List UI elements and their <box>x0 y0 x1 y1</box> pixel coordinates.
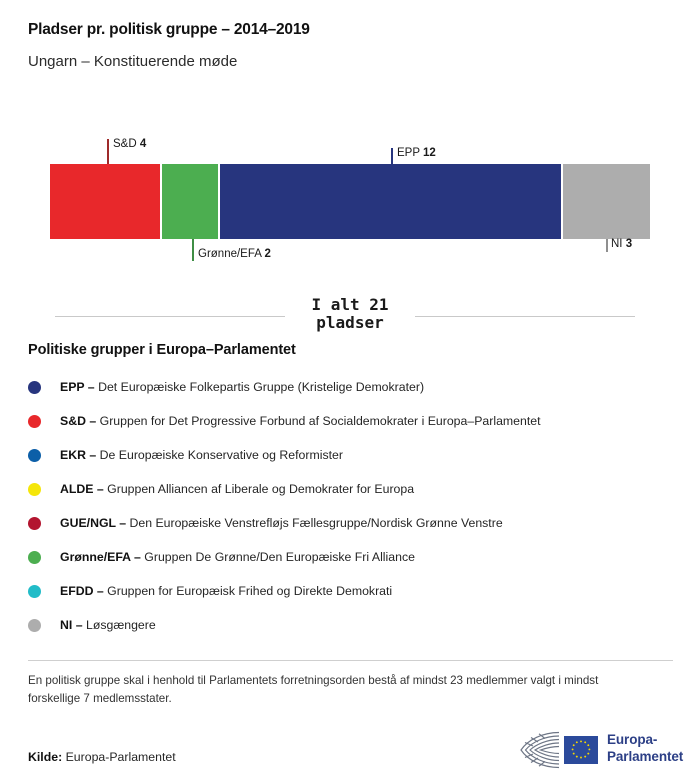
legend-dot-icon <box>28 449 41 462</box>
callout-label-sd: S&D 4 <box>113 138 146 150</box>
chart-header: Pladser pr. politisk gruppe – 2014–2019 … <box>28 20 672 72</box>
leader-line-ni <box>606 239 608 252</box>
total-seats-text: I alt 21 pladser <box>0 296 700 332</box>
callout-label-epp: EPP 12 <box>397 147 436 159</box>
legend-item-abbr: S&D – <box>60 414 96 428</box>
legend-item-desc: De Europæiske Konservative og Reformiste… <box>100 448 343 462</box>
bar-segment-sd[interactable] <box>50 164 162 239</box>
callout-label-ni: NI 3 <box>611 238 632 250</box>
legend-item-text: ALDE – Gruppen Alliancen af Liberale og … <box>60 482 414 497</box>
footnote-text: En politisk gruppe skal i henhold til Pa… <box>28 672 648 708</box>
legend-dot-icon <box>28 619 41 632</box>
logo-wordmark: Europa- Parlamentet <box>607 731 683 766</box>
source-label: Kilde: <box>28 750 62 764</box>
callout-value-sd: 4 <box>140 138 146 150</box>
legend-list: EPP – Det Europæiske Folkepartis Gruppe … <box>28 370 673 642</box>
legend-item-desc: Gruppen Alliancen af Liberale og Demokra… <box>107 482 414 496</box>
bar-segment-epp[interactable] <box>220 164 563 239</box>
bar-segment-gronne-efa[interactable] <box>162 164 220 239</box>
total-seats-line2: pladser <box>0 314 700 332</box>
bar-segment-ni[interactable] <box>563 164 650 239</box>
hemicycle-icon <box>515 727 603 773</box>
legend-item-abbr: ALDE – <box>60 482 104 496</box>
legend-item-text: S&D – Gruppen for Det Progressive Forbun… <box>60 414 541 429</box>
legend-item-text: EFDD – Gruppen for Europæisk Frihed og D… <box>60 584 392 599</box>
legend-item-abbr: EFDD – <box>60 584 104 598</box>
logo-line-1: Europa- <box>607 731 683 748</box>
legend-item-desc: Den Europæiske Venstrefløjs Fællesgruppe… <box>129 516 502 530</box>
source-value: Europa-Parlamentet <box>66 750 176 764</box>
legend-item-text: NI – Løsgængere <box>60 618 156 633</box>
stacked-bar-chart: S&D 4 EPP 12 Grønne/EFA 2 NI 3 <box>0 130 700 270</box>
legend-item-efdd[interactable]: EFDD – Gruppen for Europæisk Frihed og D… <box>28 574 673 608</box>
callout-name-epp: EPP <box>397 147 420 159</box>
callout-label-gronne-efa: Grønne/EFA 2 <box>198 248 271 260</box>
callout-value-ni: 3 <box>626 238 632 250</box>
legend-item-desc: Gruppen De Grønne/Den Europæiske Fri All… <box>144 550 415 564</box>
page-subtitle: Ungarn – Konstituerende møde <box>28 52 672 72</box>
legend-item-desc: Det Europæiske Folkepartis Gruppe (Krist… <box>98 380 424 394</box>
legend-item-desc: Løsgængere <box>86 618 156 632</box>
legend-item-desc: Gruppen for Europæisk Frihed og Direkte … <box>107 584 392 598</box>
logo-line-2: Parlamentet <box>607 748 683 765</box>
legend-item-ni[interactable]: NI – Løsgængere <box>28 608 673 642</box>
source-line: Kilde: Europa-Parlamentet <box>28 750 176 764</box>
legend-dot-icon <box>28 415 41 428</box>
legend-item-gronne-efa[interactable]: Grønne/EFA – Gruppen De Grønne/Den Europ… <box>28 540 673 574</box>
callout-name-gronne-efa: Grønne/EFA <box>198 248 261 260</box>
legend-item-epp[interactable]: EPP – Det Europæiske Folkepartis Gruppe … <box>28 370 673 404</box>
leader-line-sd <box>107 139 109 164</box>
european-parliament-logo: Europa- Parlamentet <box>515 727 675 773</box>
leader-line-epp <box>391 148 393 164</box>
legend-item-text: EKR – De Europæiske Konservative og Refo… <box>60 448 343 463</box>
legend-item-desc: Gruppen for Det Progressive Forbund af S… <box>100 414 541 428</box>
legend-heading: Politiske grupper i Europa–Parlamentet <box>28 342 296 358</box>
legend-item-alde[interactable]: ALDE – Gruppen Alliancen af Liberale og … <box>28 472 673 506</box>
legend-dot-icon <box>28 517 41 530</box>
legend-item-abbr: NI – <box>60 618 83 632</box>
callout-name-sd: S&D <box>113 138 137 150</box>
legend-item-text: EPP – Det Europæiske Folkepartis Gruppe … <box>60 380 424 395</box>
legend-item-gue-ngl[interactable]: GUE/NGL – Den Europæiske Venstrefløjs Fæ… <box>28 506 673 540</box>
legend-item-abbr: EKR – <box>60 448 96 462</box>
legend-item-abbr: GUE/NGL – <box>60 516 126 530</box>
legend-item-text: Grønne/EFA – Gruppen De Grønne/Den Europ… <box>60 550 415 565</box>
callout-value-epp: 12 <box>423 147 436 159</box>
bar-track <box>50 164 650 239</box>
legend-item-ekr[interactable]: EKR – De Europæiske Konservative og Refo… <box>28 438 673 472</box>
footnote-divider <box>28 660 673 661</box>
legend-item-text: GUE/NGL – Den Europæiske Venstrefløjs Fæ… <box>60 516 503 531</box>
total-seats-block: I alt 21 pladser <box>0 296 700 344</box>
legend-item-abbr: EPP – <box>60 380 95 394</box>
leader-line-gronne-efa <box>192 239 194 261</box>
callout-name-ni: NI <box>611 238 623 250</box>
legend-item-abbr: Grønne/EFA – <box>60 550 141 564</box>
legend-dot-icon <box>28 483 41 496</box>
page-title: Pladser pr. politisk gruppe – 2014–2019 <box>28 20 672 40</box>
legend-dot-icon <box>28 381 41 394</box>
total-seats-line1: I alt 21 <box>0 296 700 314</box>
legend-item-sd[interactable]: S&D – Gruppen for Det Progressive Forbun… <box>28 404 673 438</box>
legend-dot-icon <box>28 585 41 598</box>
callout-value-gronne-efa: 2 <box>264 248 270 260</box>
legend-dot-icon <box>28 551 41 564</box>
